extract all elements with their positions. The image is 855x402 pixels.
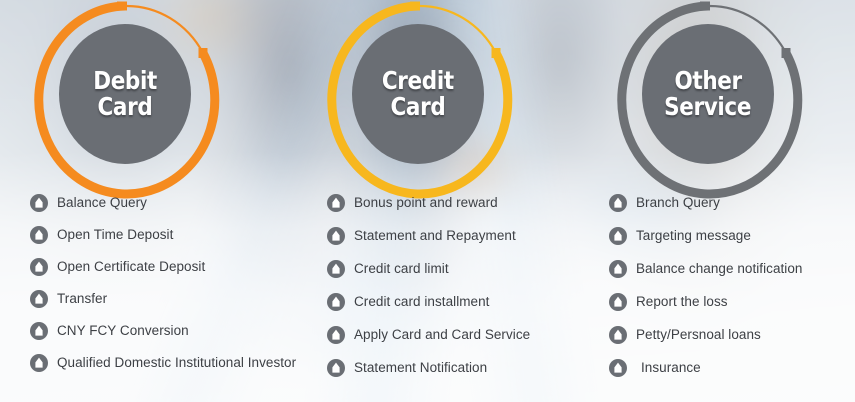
chevron-up-circle-icon [327,359,345,377]
chevron-up-circle-icon [30,258,48,276]
badge-title-line2: Card [98,94,153,121]
list-item[interactable]: Insurance [609,359,855,377]
list-item[interactable]: Balance Query [30,194,320,212]
list-item[interactable]: Transfer [30,290,320,308]
badge-title-line2: Card [391,94,446,121]
chevron-up-circle-icon [609,260,627,278]
chevron-up-circle-icon [30,194,48,212]
chevron-up-circle-icon [609,227,627,245]
service-list-debit-card: Balance Query Open Time Deposit Open Cer… [30,194,320,386]
badge-debit-card[interactable]: Debit Card [25,0,225,194]
service-list-credit-card: Bonus point and reward Statement and Rep… [327,194,607,392]
list-item-label: Credit card limit [354,260,449,278]
list-item[interactable]: Qualified Domestic Institutional Investo… [30,354,320,372]
list-item-label: Report the loss [636,293,728,311]
list-item-label: Statement Notification [354,359,487,377]
list-item-label: Insurance [641,359,701,377]
badge-title-line2: Service [665,94,752,121]
infographic-stage: Debit Card Credit Card [0,0,855,402]
list-item-label: Petty/Persnoal loans [636,326,761,344]
list-item-label: Open Time Deposit [57,226,173,244]
badge-credit-card[interactable]: Credit Card [318,0,518,194]
service-columns: Balance Query Open Time Deposit Open Cer… [0,194,855,402]
list-item[interactable]: Balance change notification [609,260,855,278]
list-item-label: Qualified Domestic Institutional Investo… [57,354,296,372]
chevron-up-circle-icon [30,322,48,340]
chevron-up-circle-icon [609,194,627,212]
list-item[interactable]: Open Certificate Deposit [30,258,320,276]
list-item-label: Targeting message [636,227,751,245]
list-item-label: Balance change notification [636,260,802,278]
chevron-up-circle-icon [30,226,48,244]
list-item-label: Balance Query [57,194,147,212]
list-item-label: Branch Query [636,194,720,212]
list-item[interactable]: CNY FCY Conversion [30,322,320,340]
chevron-up-circle-icon [327,194,345,212]
chevron-up-circle-icon [30,290,48,308]
badge-core: Other Service [642,24,774,164]
list-item[interactable]: Credit card installment [327,293,607,311]
chevron-up-circle-icon [327,326,345,344]
chevron-up-circle-icon [609,326,627,344]
badge-other-service[interactable]: Other Service [608,0,808,194]
badge-title-line1: Debit [93,68,157,95]
list-item-label: Apply Card and Card Service [354,326,530,344]
list-item[interactable]: Credit card limit [327,260,607,278]
list-item[interactable]: Petty/Persnoal loans [609,326,855,344]
chevron-up-circle-icon [327,227,345,245]
list-item[interactable]: Branch Query [609,194,855,212]
chevron-up-circle-icon [609,293,627,311]
list-item[interactable]: Statement and Repayment [327,227,607,245]
list-item-label: Transfer [57,290,107,308]
list-item-label: Statement and Repayment [354,227,516,245]
list-item[interactable]: Statement Notification [327,359,607,377]
badge-core: Credit Card [352,24,484,164]
badge-core: Debit Card [59,24,191,164]
list-item-label: Credit card installment [354,293,489,311]
list-item-label: Bonus point and reward [354,194,498,212]
chevron-up-circle-icon [327,293,345,311]
badge-title-line1: Credit [382,68,454,95]
list-item[interactable]: Bonus point and reward [327,194,607,212]
list-item[interactable]: Open Time Deposit [30,226,320,244]
chevron-up-circle-icon [327,260,345,278]
list-item-label: Open Certificate Deposit [57,258,205,276]
infographic-content: Debit Card Credit Card [0,0,855,402]
badge-title-line1: Other [674,68,741,95]
list-item[interactable]: Apply Card and Card Service [327,326,607,344]
chevron-up-circle-icon [30,354,48,372]
list-item-label: CNY FCY Conversion [57,322,189,340]
list-item[interactable]: Targeting message [609,227,855,245]
service-list-other-service: Branch Query Targeting message Balance c… [609,194,855,392]
list-item[interactable]: Report the loss [609,293,855,311]
chevron-up-circle-icon [609,359,627,377]
